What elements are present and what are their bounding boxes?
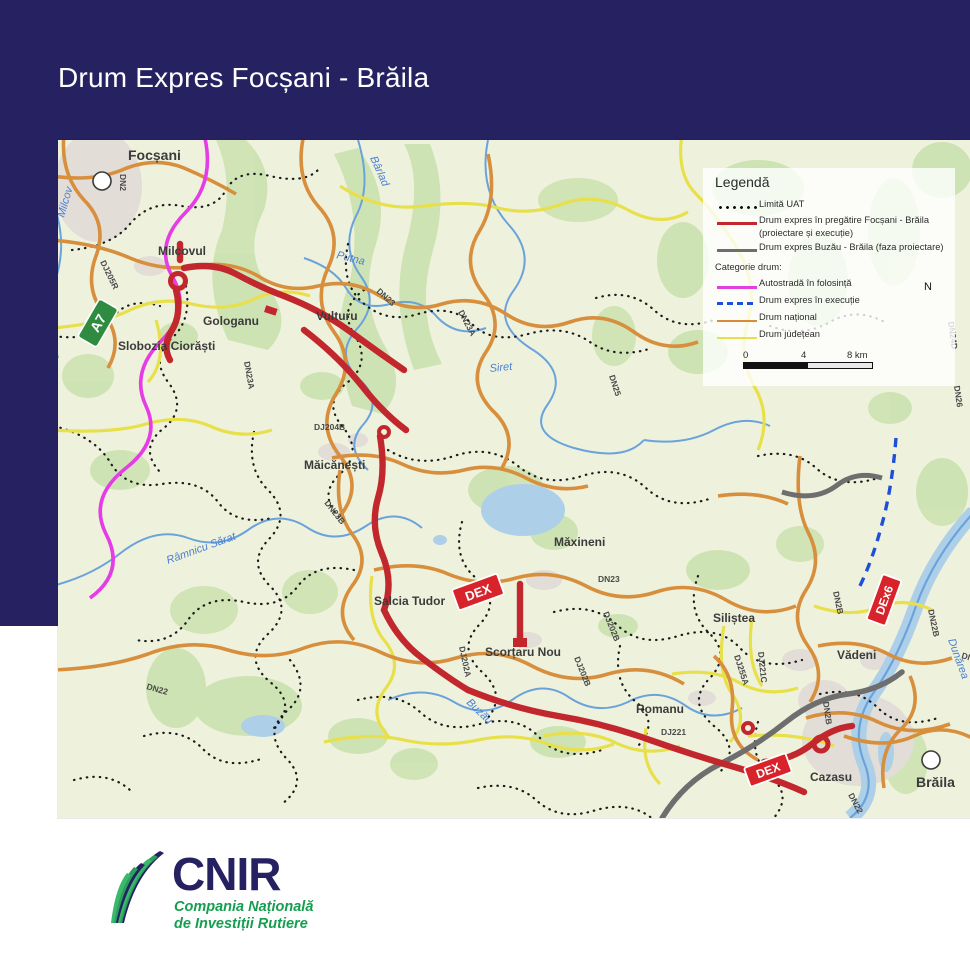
scalebar-tick: 0 — [743, 350, 748, 361]
legend-category-label: Drum expres în execuție — [759, 295, 860, 307]
magenta-line-icon — [715, 281, 759, 293]
svg-text:Gologanu: Gologanu — [203, 314, 259, 328]
svg-text:Măxineni: Măxineni — [554, 535, 605, 549]
dotted-line-icon — [715, 202, 759, 214]
svg-text:Slobozia Ciorăști: Slobozia Ciorăști — [118, 339, 215, 353]
svg-text:Focșani: Focșani — [128, 147, 181, 163]
legend-category-drum-national: Drum național — [715, 312, 817, 327]
map-scalebar: 0 4 8 km — [743, 350, 873, 369]
legend-category-drum-expres-executie: Drum expres în execuție — [715, 295, 860, 310]
svg-text:DJ221: DJ221 — [661, 727, 686, 737]
svg-text:Siret: Siret — [489, 361, 514, 375]
cnir-tagline: Compania Națională de Investiții Rutiere — [174, 899, 313, 932]
cnir-tagline-line2: de Investiții Rutiere — [174, 916, 313, 933]
svg-text:Măicănești: Măicănești — [304, 458, 365, 472]
yellow-line-icon — [715, 332, 759, 344]
legend-category-label: Autostradă în folosință — [759, 278, 852, 290]
scalebar-tick: 4 — [801, 350, 806, 361]
svg-text:Romanu: Romanu — [636, 702, 684, 716]
legend-title: Legendă — [715, 174, 770, 190]
cnir-logo: CNIR Compania Națională de Investiții Ru… — [110, 845, 440, 930]
svg-text:Vădeni: Vădeni — [837, 648, 876, 662]
north-label: N — [924, 281, 932, 293]
legend-category-label: Drum național — [759, 312, 817, 324]
svg-text:Siliștea: Siliștea — [713, 611, 755, 625]
svg-text:Milcovul: Milcovul — [158, 244, 206, 258]
svg-text:Cazasu: Cazasu — [810, 770, 852, 784]
legend-item-sublabel: (proiectare și execuție) — [759, 228, 853, 238]
red-line-icon — [715, 218, 759, 230]
legend-item-label: Limită UAT — [759, 199, 804, 211]
cnir-wordmark: CNIR — [172, 851, 280, 897]
svg-text:Salcia Tudor: Salcia Tudor — [374, 594, 445, 608]
scalebar-bar — [743, 362, 873, 369]
orange-line-icon — [715, 315, 759, 327]
legend-item-label: Drum expres în pregătire Focșani - Brăil… — [759, 215, 929, 227]
north-arrow-icon — [908, 295, 970, 818]
cnir-swoosh-icon — [110, 849, 172, 927]
page-title: Drum Expres Focșani - Brăila — [58, 62, 429, 94]
map-canvas[interactable]: DN2 DJ205R DN23 DN23A DN23A DJ204B DN23B… — [58, 140, 970, 818]
legend-category-label: Drum județean — [759, 329, 820, 341]
north-arrow: N — [908, 283, 948, 345]
svg-text:DN23: DN23 — [598, 574, 620, 584]
map-legend: Legendă Limită UAT Drum expres în pregăt… — [703, 168, 955, 386]
svg-text:DJ204B: DJ204B — [314, 422, 345, 432]
scalebar-ticks: 0 4 8 km — [743, 350, 873, 362]
svg-text:Vulturu: Vulturu — [316, 309, 358, 323]
scalebar-tick: 8 km — [847, 350, 868, 361]
legend-category-autostrada: Autostradă în folosință — [715, 278, 852, 293]
legend-item-drum-expres-buzau: Drum expres Buzău - Brăila (faza proiect… — [715, 242, 943, 257]
cnir-tagline-line1: Compania Națională — [174, 899, 313, 916]
legend-category-drum-judetean: Drum județean — [715, 329, 820, 344]
svg-text:DN2: DN2 — [118, 174, 128, 191]
legend-item-limita-uat: Limită UAT — [715, 199, 804, 214]
legend-category-title: Categorie drum: — [715, 262, 782, 272]
svg-text:Scorțaru Nou: Scorțaru Nou — [485, 645, 561, 659]
grey-line-icon — [715, 245, 759, 257]
legend-item-label: Drum expres Buzău - Brăila (faza proiect… — [759, 242, 943, 254]
blue-dashed-line-icon — [715, 298, 759, 310]
